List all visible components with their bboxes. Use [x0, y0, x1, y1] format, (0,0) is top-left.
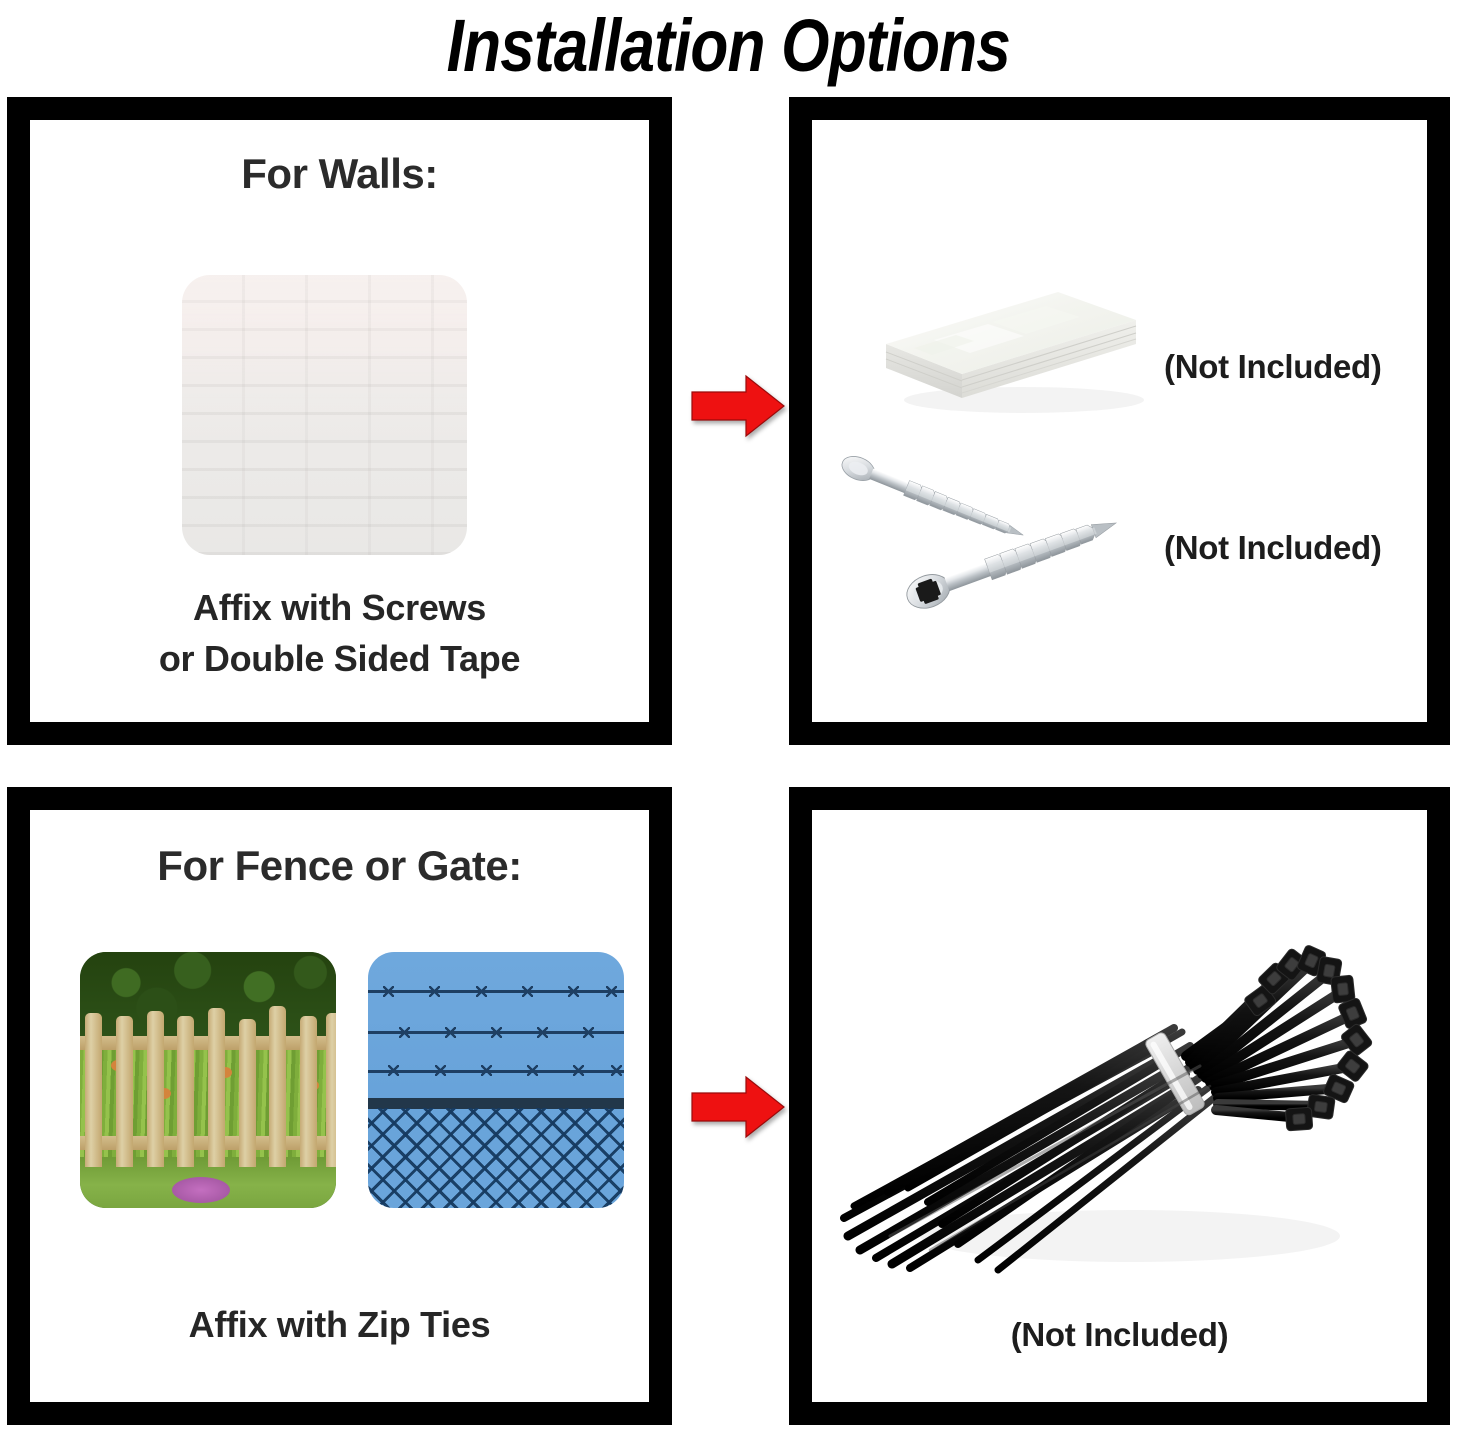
panel-for-walls: For Walls: Affix with Screws or Double S…: [7, 97, 672, 745]
red-right-arrow-icon-walls: [690, 373, 786, 439]
panel-wall-hardware-content: (Not Included): [812, 120, 1427, 722]
panel-wall-hardware: (Not Included): [789, 97, 1450, 745]
chain-link-barbed-wire-fence-photo: [368, 952, 624, 1208]
zip-ties-not-included-label: (Not Included): [812, 1316, 1427, 1354]
title-bar: Installation Options: [0, 0, 1457, 92]
panel-zip-ties-content: (Not Included): [812, 810, 1427, 1402]
for-fence-heading: For Fence or Gate:: [30, 842, 649, 890]
white-brick-wall-photo: [182, 275, 467, 555]
for-fence-caption: Affix with Zip Ties: [30, 1299, 649, 1350]
panel-for-walls-content: For Walls: Affix with Screws or Double S…: [30, 120, 649, 722]
red-right-arrow-icon-fence: [690, 1074, 786, 1140]
for-walls-heading: For Walls:: [30, 150, 649, 198]
screws-not-included-label: (Not Included): [1164, 529, 1382, 567]
panel-for-fence-or-gate: For Fence or Gate:: [7, 787, 672, 1425]
tape-not-included-label: (Not Included): [1164, 348, 1382, 386]
for-walls-caption-line2: or Double Sided Tape: [30, 633, 649, 684]
for-walls-caption: Affix with Screws or Double Sided Tape: [30, 582, 649, 684]
double-sided-tape-stack-icon: [874, 248, 1174, 423]
for-walls-caption-line1: Affix with Screws: [30, 582, 649, 633]
black-zip-ties-bundle-icon: [830, 906, 1390, 1306]
wooden-picket-fence-photo: [80, 952, 336, 1208]
panel-zip-ties: (Not Included): [789, 787, 1450, 1425]
page-title: Installation Options: [447, 9, 1010, 83]
panel-for-fence-content: For Fence or Gate:: [30, 810, 649, 1402]
